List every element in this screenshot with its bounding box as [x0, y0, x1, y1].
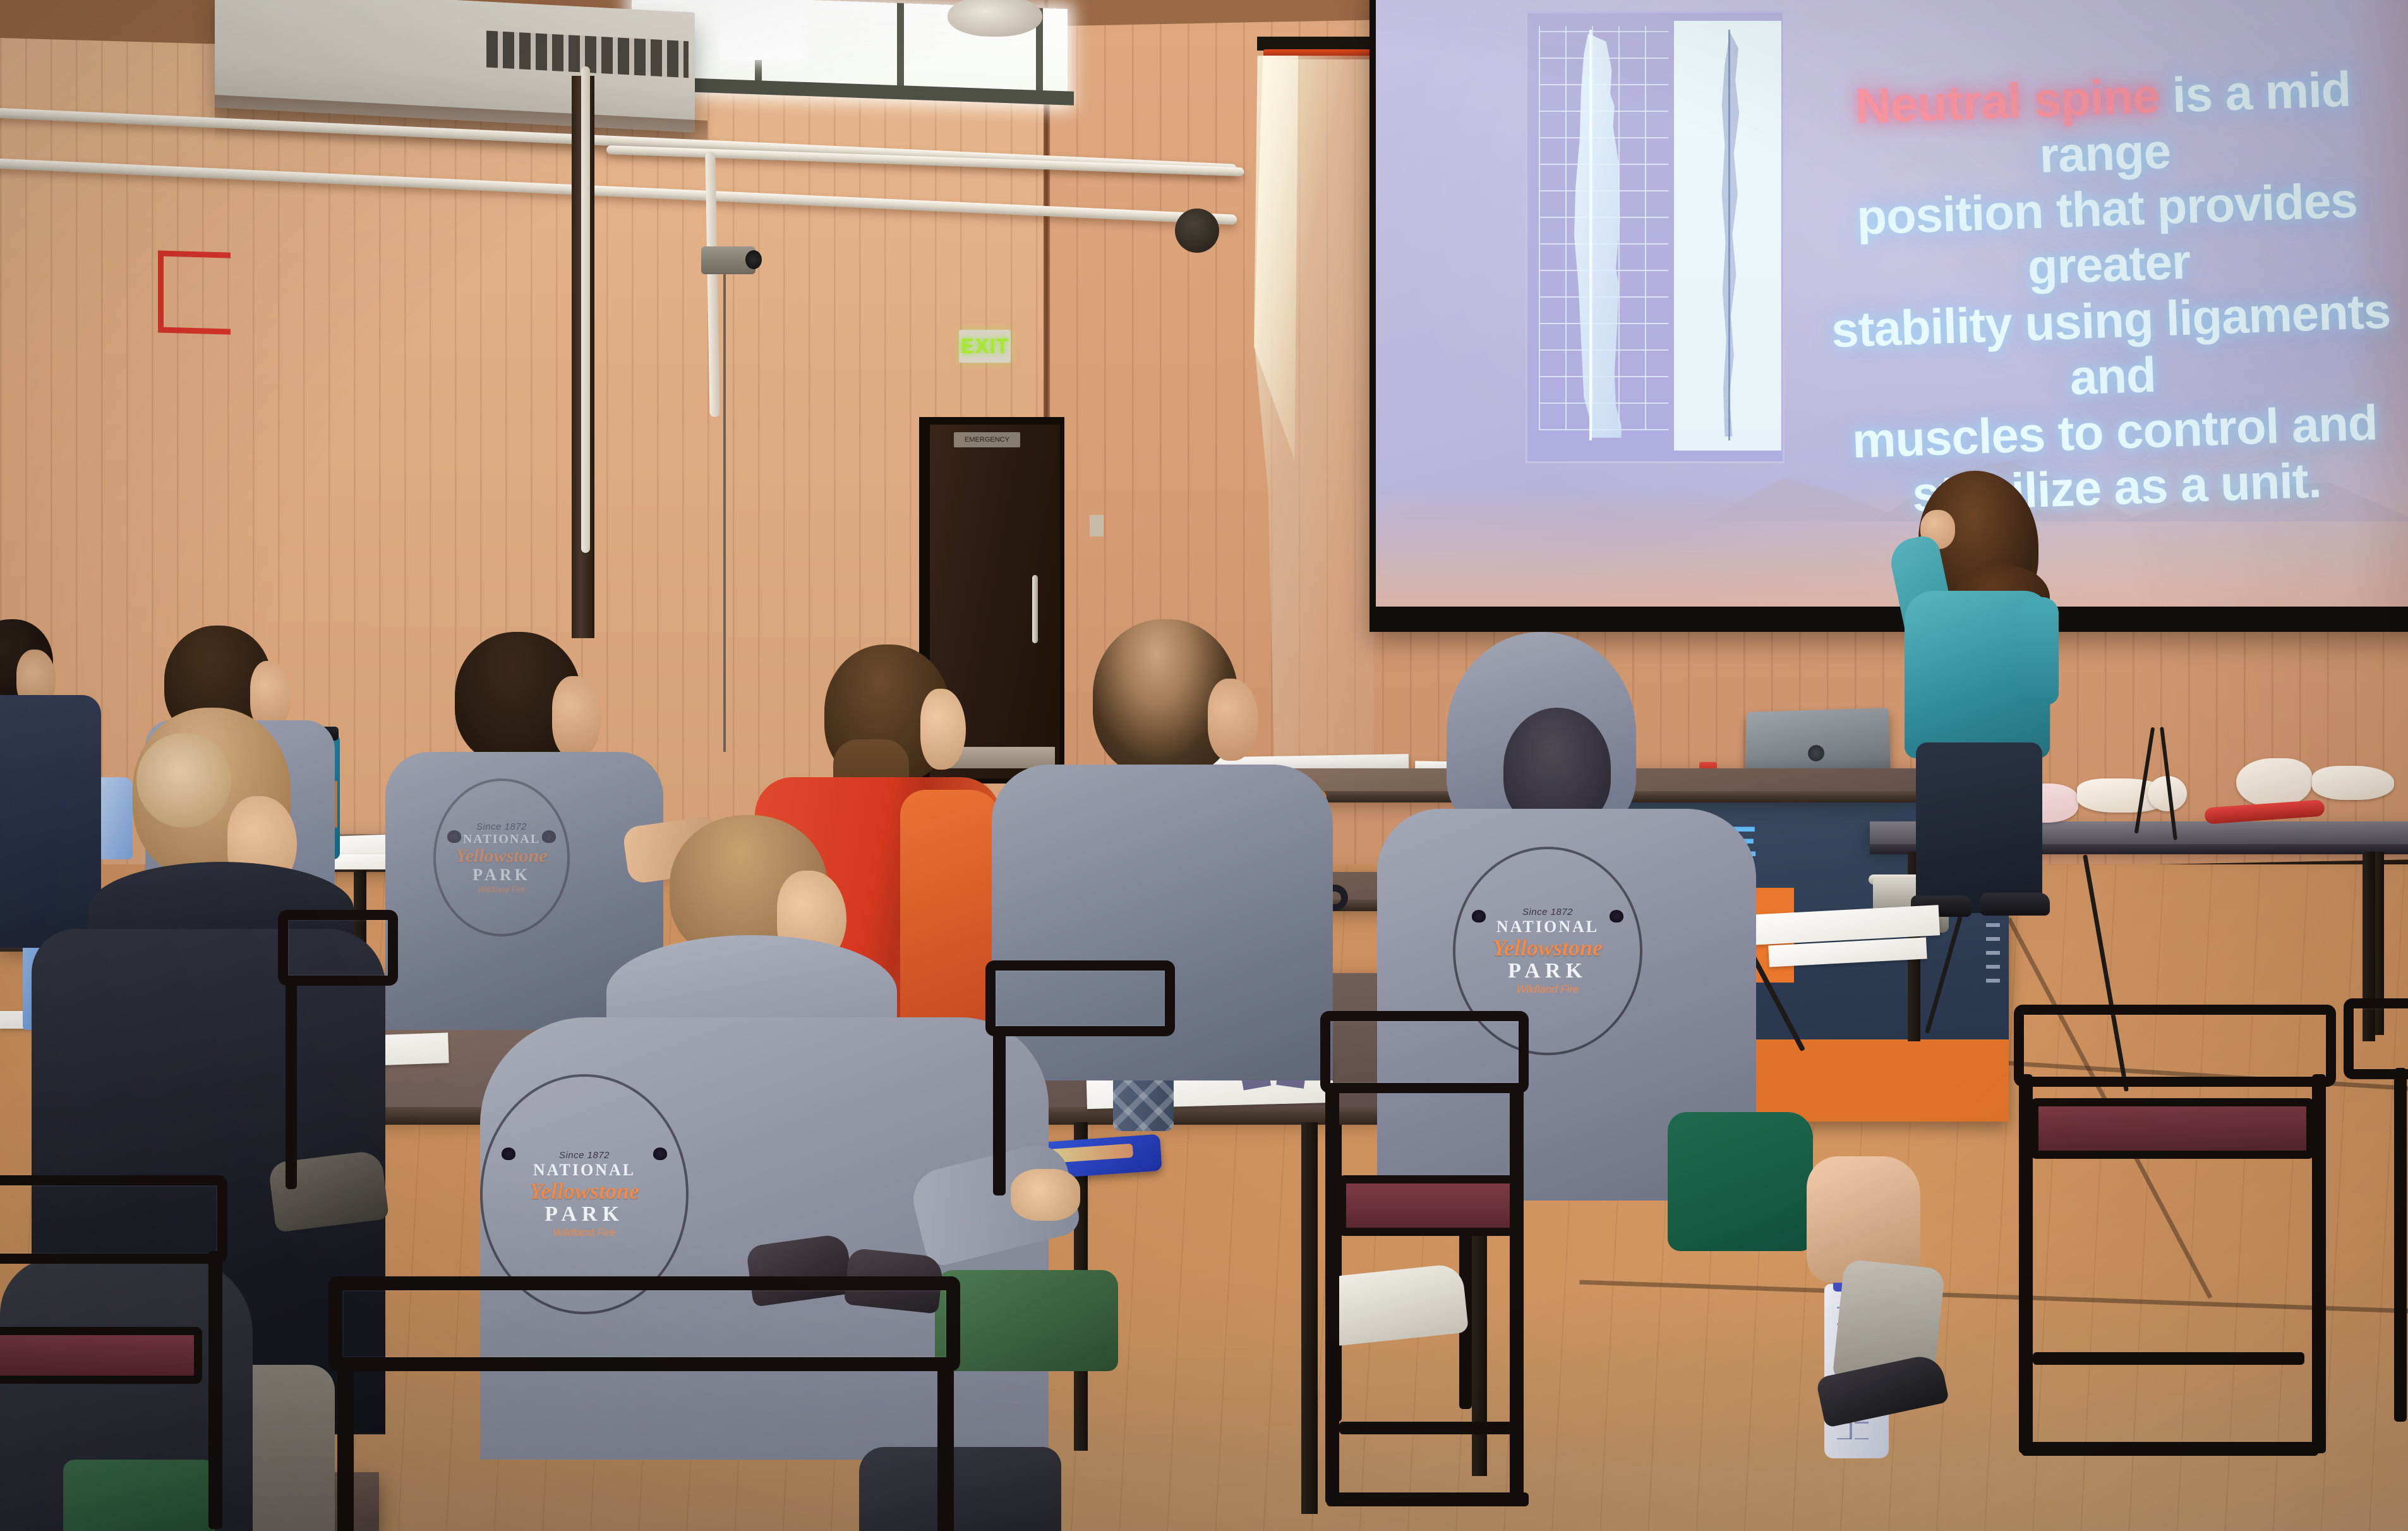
paw-print-icon	[653, 1147, 667, 1160]
face	[1208, 679, 1258, 761]
chair-leg	[2312, 1074, 2326, 1453]
shorts-dark	[859, 1447, 1061, 1531]
hanging-cable	[723, 265, 726, 752]
face	[552, 676, 601, 758]
chair-leg	[337, 1365, 354, 1531]
chair-seat	[0, 1327, 202, 1384]
exit-sign: EXIT	[959, 330, 1011, 363]
logo-park-name: Yellowstone	[529, 1180, 639, 1202]
slide-accent-phrase: Neutral spine	[1855, 68, 2160, 134]
ceiling-vent-diffuser	[948, 0, 1042, 37]
chair-crossbar	[2033, 1352, 2304, 1365]
table-leg	[1301, 1122, 1318, 1514]
chair-leg	[208, 1251, 222, 1529]
attendee-gray-yellowstone-hoodie[interactable]: Since 1872 NATIONAL Yellowstone PARK Wil…	[1339, 632, 1769, 1359]
window-upper-right	[720, 0, 802, 60]
attendee-gray-hoodie-front-row[interactable]: Since 1872 NATIONAL Yellowstone PARK Wil…	[480, 815, 1049, 1531]
presenter-pants	[1916, 742, 2042, 913]
logo-subtitle: Wildland Fire	[553, 1226, 615, 1239]
paw-print-icon	[1472, 910, 1486, 923]
spine-diagram-panel	[1674, 21, 1781, 451]
chair-leg	[1325, 1087, 1339, 1504]
shorts-green	[1668, 1112, 1813, 1251]
slide-line-1: Neutral spine is a mid range	[1799, 59, 2408, 191]
wall-bracket-paint-marking	[158, 250, 231, 334]
presenter[interactable]	[1860, 471, 2050, 913]
anatomical-femur-model[interactable]	[2236, 758, 2312, 808]
sneaker-white	[1323, 1263, 1469, 1346]
chair-leg	[286, 981, 297, 1189]
chair-back	[328, 1276, 960, 1371]
chair-leg	[2394, 1068, 2407, 1422]
slide-text-block: Neutral spine is a mid range position th…	[1799, 59, 2408, 525]
paw-print-icon	[1610, 910, 1623, 923]
laptop-logo-icon	[1808, 745, 1824, 761]
logo-national: NATIONAL	[1496, 917, 1599, 936]
chair-back	[0, 1175, 227, 1264]
chair-seat	[2030, 1098, 2315, 1159]
chair-back	[985, 960, 1175, 1036]
plumb-line	[1589, 30, 1592, 440]
hand	[1011, 1169, 1080, 1221]
chair-back	[2014, 1005, 2336, 1087]
projector-lens-icon	[745, 250, 762, 269]
chair-seat	[1338, 1175, 1521, 1236]
slide-line-2: position that provides greater	[1803, 171, 2408, 303]
chair-leg	[937, 1365, 954, 1531]
conduit-pipe-vertical	[581, 66, 590, 553]
slide-line-3: stability using ligaments and	[1807, 282, 2408, 415]
paw-print-icon	[502, 1147, 515, 1160]
slide-figure-panel	[1526, 11, 1785, 463]
logo-national: NATIONAL	[533, 1161, 635, 1180]
wall-outlet	[1090, 515, 1104, 536]
presenter-arm-right	[2018, 597, 2059, 705]
chair-leg	[2019, 1074, 2033, 1453]
chair-crossbar	[1327, 1492, 1529, 1506]
presenter-shoe	[1980, 893, 2050, 916]
chair-back	[1320, 1011, 1529, 1093]
paw-print-icon	[447, 830, 461, 843]
wall-speaker	[1175, 209, 1219, 253]
logo-subtitle: Wildland Fire	[1516, 983, 1579, 996]
exit-sign-label: EXIT	[960, 334, 1009, 358]
spine-plumb-line	[1728, 30, 1730, 440]
hair-bun	[136, 733, 231, 828]
logo-park: PARK	[1508, 959, 1587, 983]
chair-leg	[1510, 1087, 1524, 1504]
anatomical-bone-model[interactable]	[2312, 766, 2394, 800]
chair-back	[2344, 998, 2408, 1079]
spine-skeleton-drawing	[1712, 32, 1750, 437]
chair-crossbar	[1339, 1422, 1516, 1434]
logo-since: Since 1872	[559, 1150, 610, 1161]
green-bag	[63, 1460, 215, 1531]
chair-leg	[993, 1031, 1006, 1195]
logo-park-name: Yellowstone	[1493, 936, 1603, 959]
presentation-room-photo: EXIT EMERGENCY Neutral spine is a mid ra…	[0, 0, 2408, 1531]
green-backpack[interactable]	[935, 1270, 1118, 1371]
chair-back	[278, 910, 398, 986]
logo-park: PARK	[545, 1202, 624, 1226]
logo-since: Since 1872	[1522, 907, 1573, 917]
door-sign-label: EMERGENCY	[954, 432, 1020, 447]
chair-crossbar	[2021, 1442, 2318, 1456]
face	[920, 689, 966, 770]
